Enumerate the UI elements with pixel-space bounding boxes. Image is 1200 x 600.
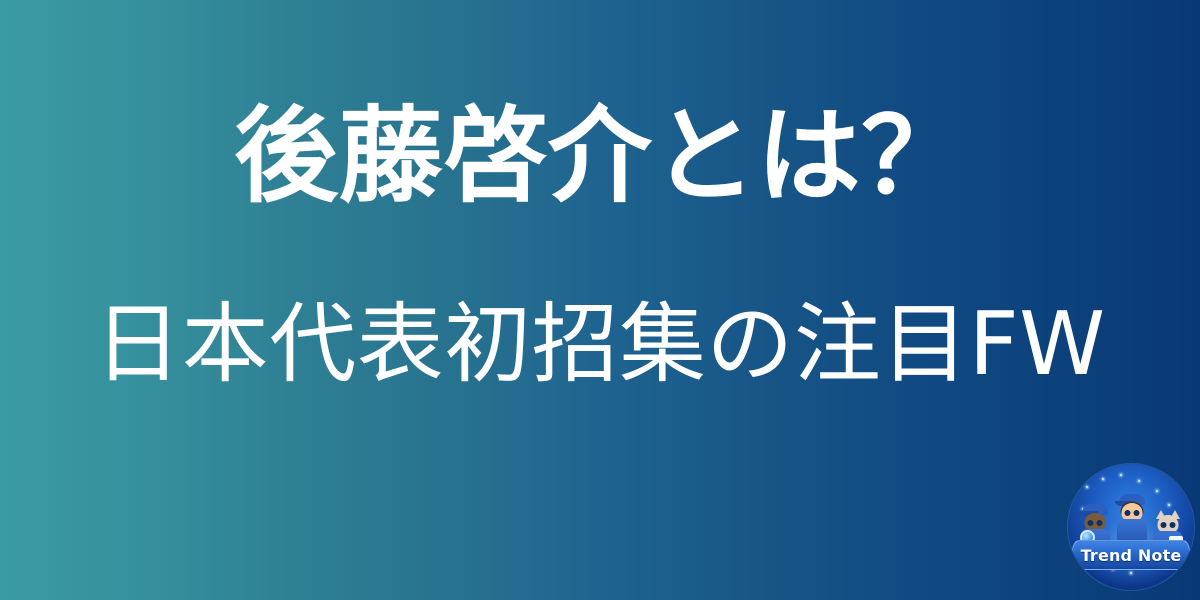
thumbnail-canvas: 後藤啓介とは？ 日本代表初招集の注目FW	[0, 0, 1200, 600]
boy-eye-left	[1125, 510, 1131, 516]
cat-eye-right	[1170, 522, 1176, 528]
trend-note-logo: Trend Note	[1068, 464, 1194, 590]
logo-brand-text: Trend Note	[1081, 546, 1182, 565]
text-block: 後藤啓介とは？ 日本代表初招集の注目FW	[0, 0, 1200, 600]
page-subtitle: 日本代表初招集の注目FW	[94, 295, 1105, 394]
cat-eye-left	[1161, 522, 1167, 528]
owl-eye-left	[1088, 520, 1094, 526]
owl-eye-right	[1097, 520, 1103, 526]
boy-eye-right	[1134, 510, 1140, 516]
logo-ribbon: Trend Note	[1072, 540, 1190, 570]
page-title: 後藤啓介とは？	[234, 96, 966, 217]
